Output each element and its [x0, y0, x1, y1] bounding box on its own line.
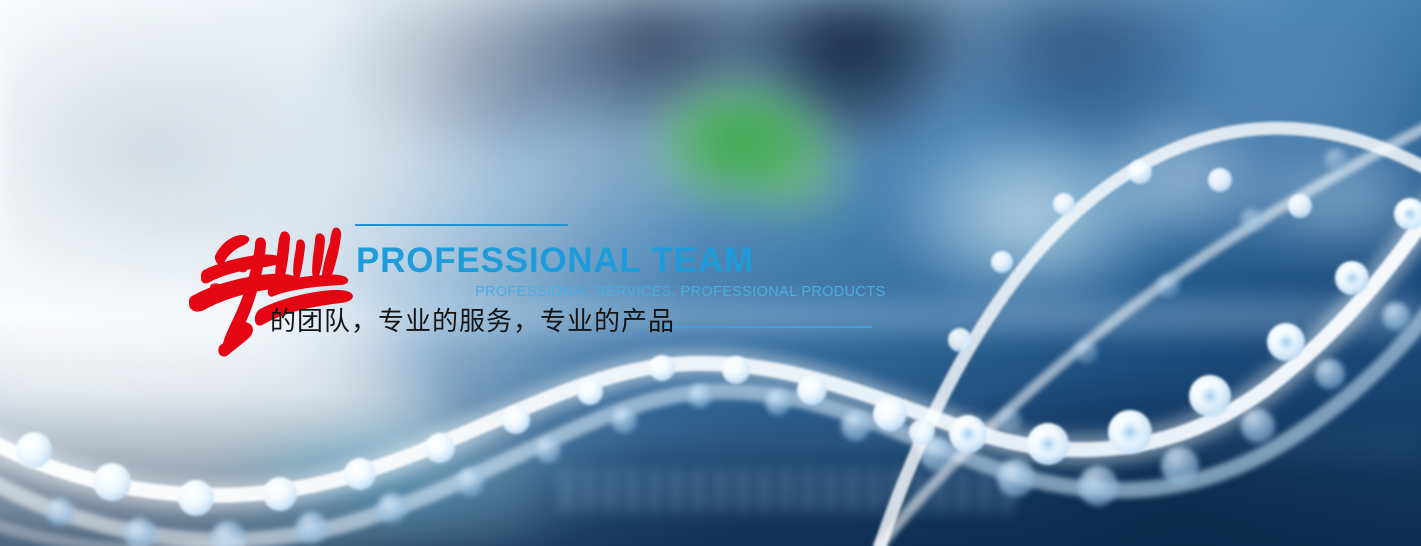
top-divider-rule: [355, 224, 568, 226]
page-subtitle: PROFESSIONAL SERVICES, PROFESSIONAL PROD…: [475, 285, 885, 300]
professional-team-banner: PROFESSIONAL TEAM PROFESSIONAL SERVICES,…: [0, 0, 1421, 546]
banner-content: PROFESSIONAL TEAM PROFESSIONAL SERVICES,…: [0, 0, 1421, 546]
bottom-divider-rule: [660, 326, 872, 328]
page-title: PROFESSIONAL TEAM: [356, 243, 754, 278]
page-tagline-chinese: 的团队，专业的服务，专业的产品: [270, 307, 675, 339]
